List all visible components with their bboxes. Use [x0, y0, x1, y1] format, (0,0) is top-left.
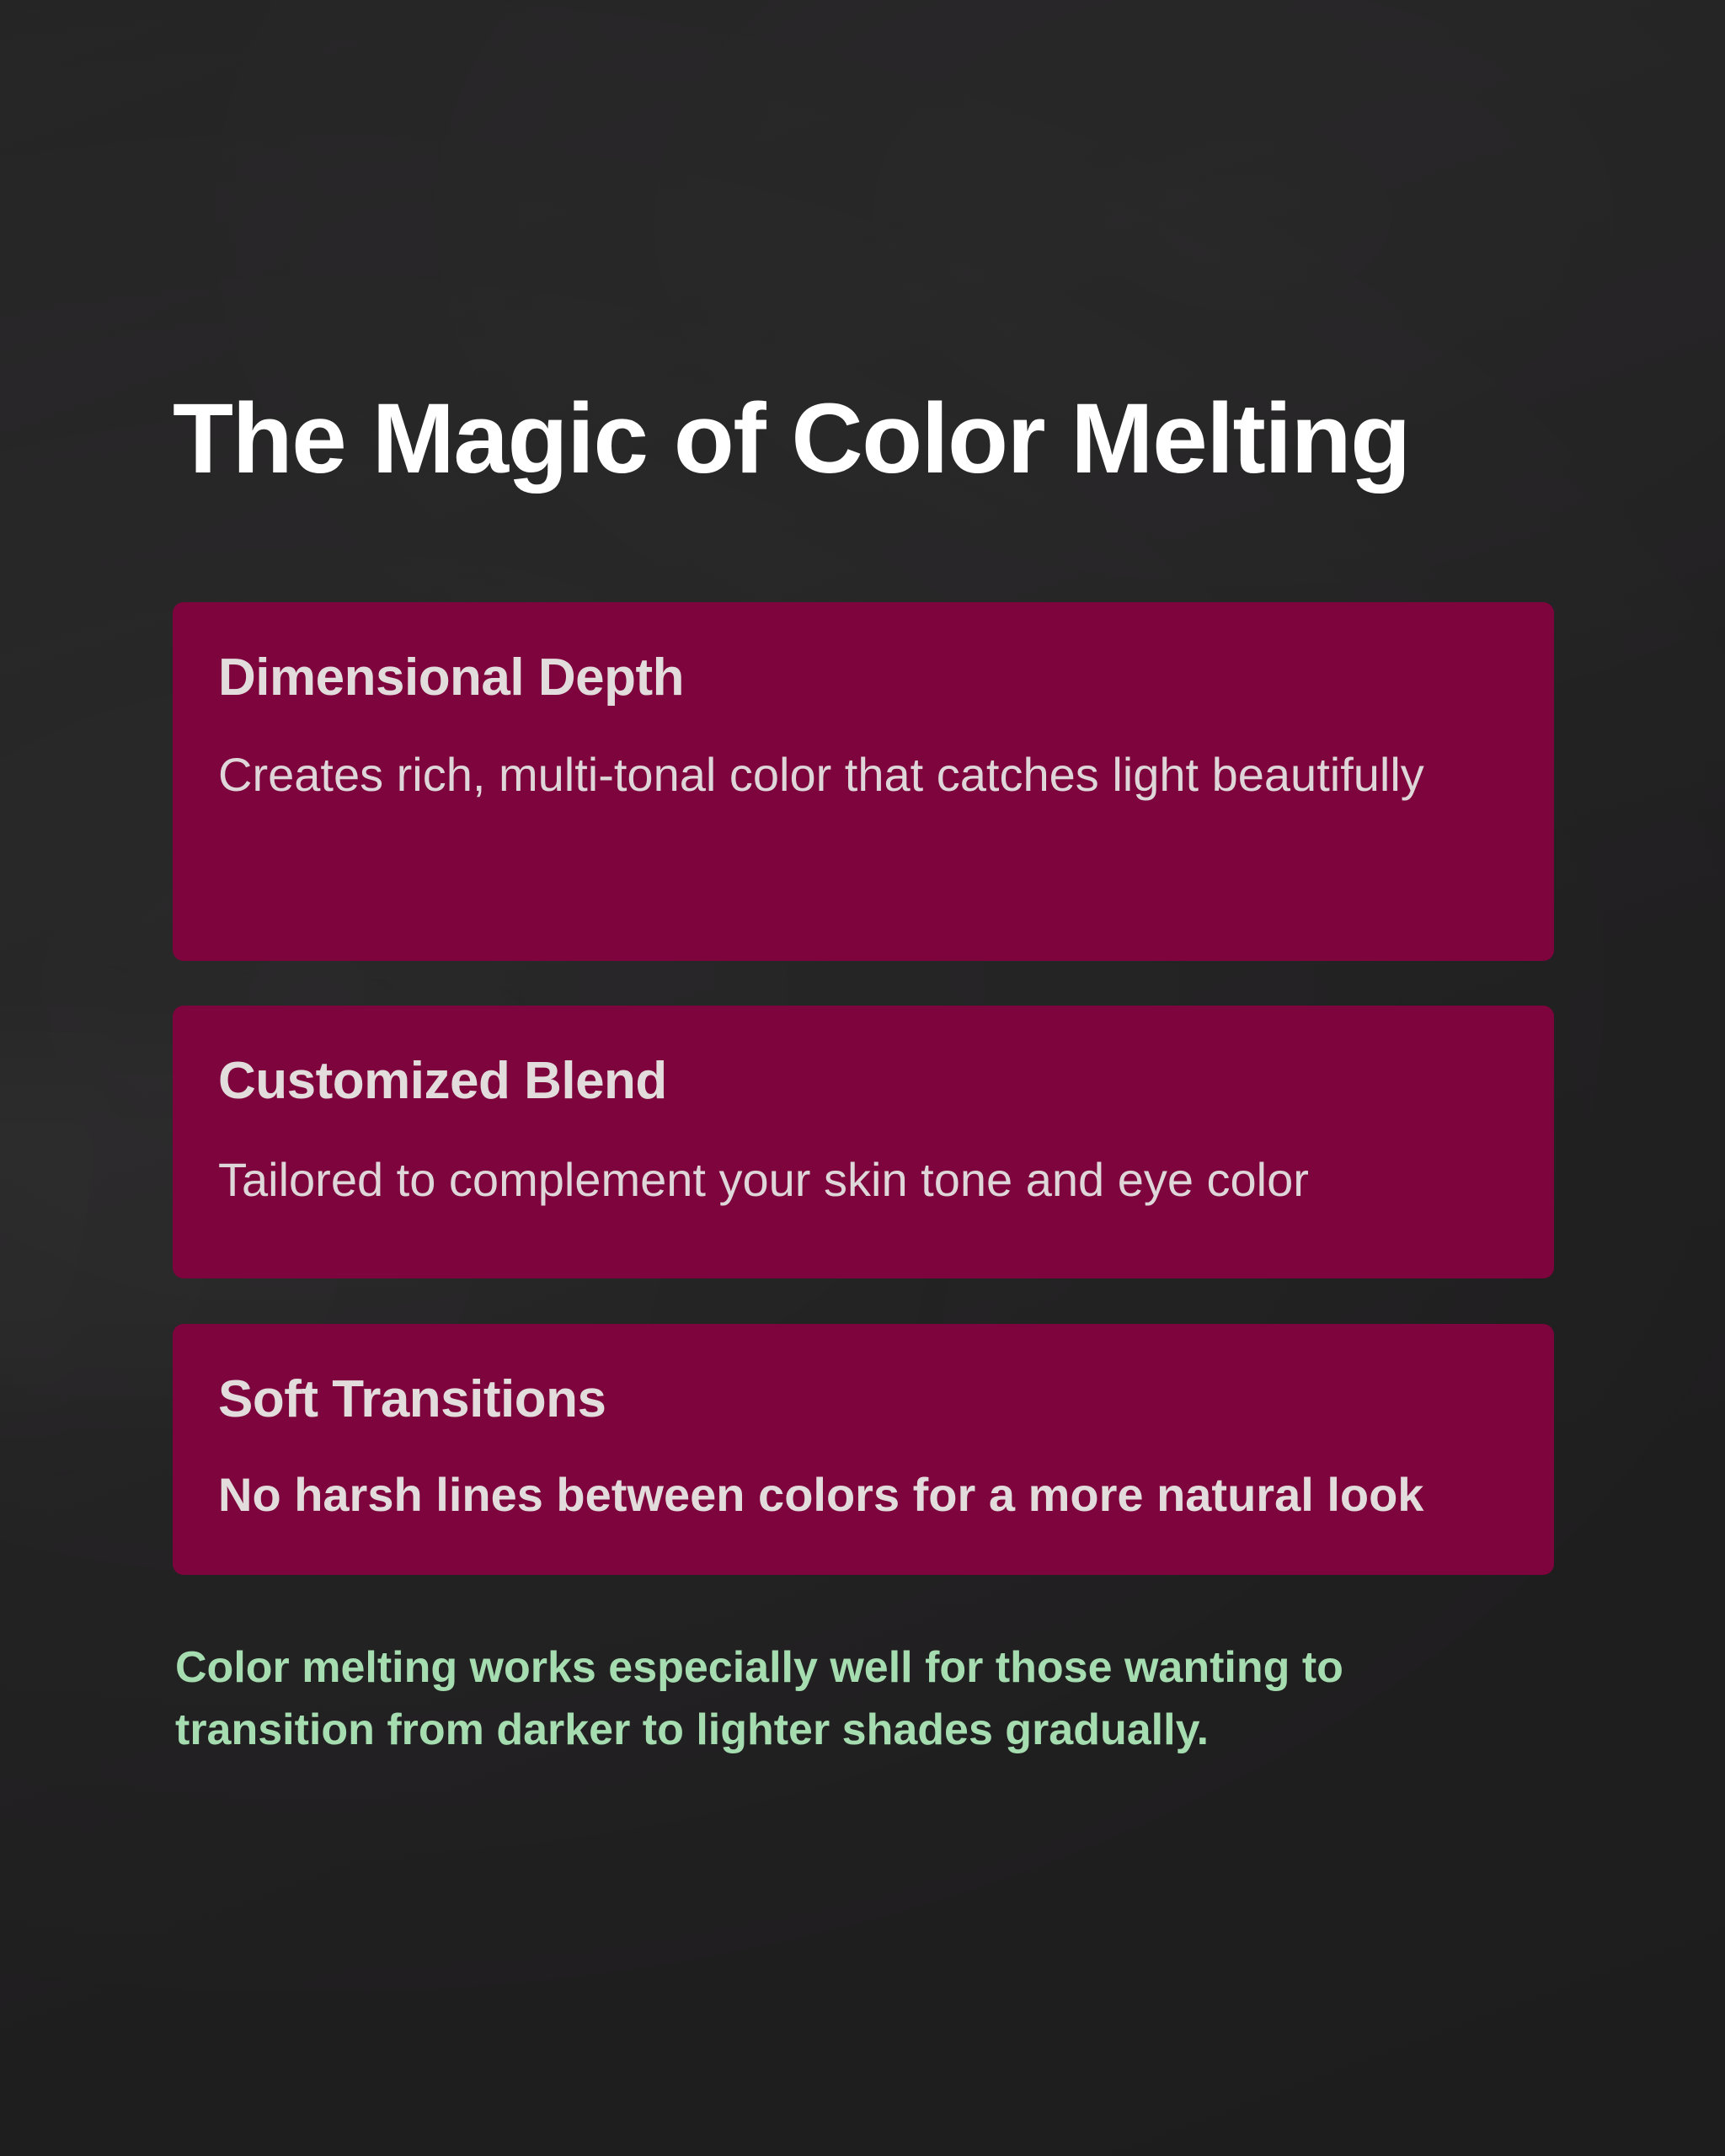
closing-note: Color melting works especially well for … [175, 1637, 1439, 1762]
benefit-card-dimensional-depth: Dimensional Depth Creates rich, multi-to… [173, 602, 1554, 961]
benefit-card-title: Customized Blend [218, 1053, 1509, 1110]
benefit-card-title: Soft Transitions [218, 1371, 1509, 1428]
page-root: The Magic of Color Melting Dimensional D… [0, 0, 1725, 2156]
benefit-card-title: Dimensional Depth [218, 649, 1509, 707]
page-title: The Magic of Color Melting [173, 383, 1554, 494]
benefit-card-body: No harsh lines between colors for a more… [218, 1457, 1509, 1534]
benefit-card-body: Creates rich, multi-tonal color that cat… [218, 737, 1509, 814]
benefit-card-body: Tailored to complement your skin tone an… [218, 1142, 1509, 1219]
benefit-card-customized-blend: Customized Blend Tailored to complement … [173, 1006, 1554, 1278]
benefit-card-soft-transitions: Soft Transitions No harsh lines between … [173, 1324, 1554, 1575]
